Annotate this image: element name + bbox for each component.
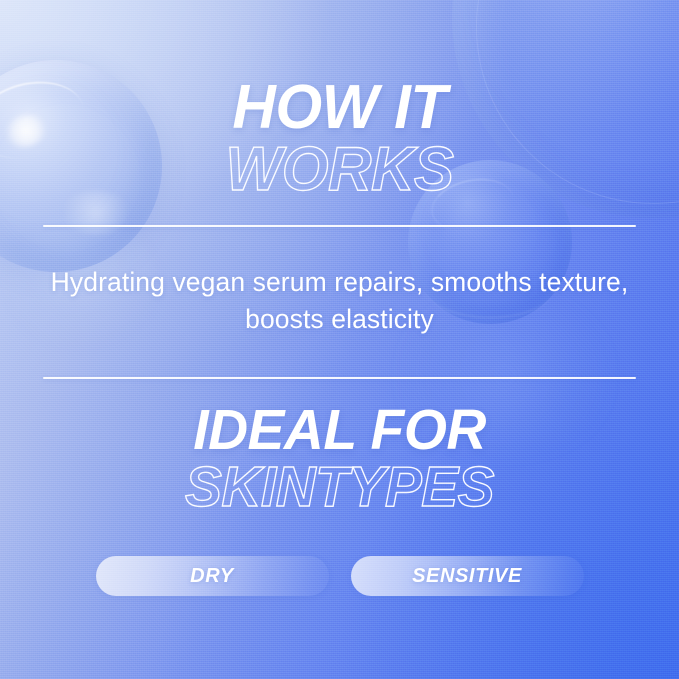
infographic-canvas: HOW IT WORKS Hydrating vegan serum repai… [0,0,679,679]
how-it-works-heading: HOW IT WORKS [0,78,679,199]
how-it-works-description: Hydrating vegan serum repairs, smooths t… [40,264,639,337]
content-layer: HOW IT WORKS Hydrating vegan serum repai… [0,0,679,679]
ideal-for-skintypes-heading: IDEAL FOR SKINTYPES [0,403,679,514]
skin-type-pill-dry[interactable]: DRY [96,556,329,596]
divider-top [43,225,636,227]
heading-line-solid: IDEAL FOR [10,403,669,458]
skin-type-label: SENSITIVE [412,565,522,588]
divider-bottom [43,377,636,379]
heading-line-solid: HOW IT [10,78,669,138]
heading-line-outline: SKINTYPES [10,460,669,515]
skin-type-label: DRY [190,565,234,588]
skin-type-pill-row: DRY SENSITIVE [0,556,679,596]
heading-line-outline: WORKS [10,140,669,200]
skin-type-pill-sensitive[interactable]: SENSITIVE [351,556,584,596]
